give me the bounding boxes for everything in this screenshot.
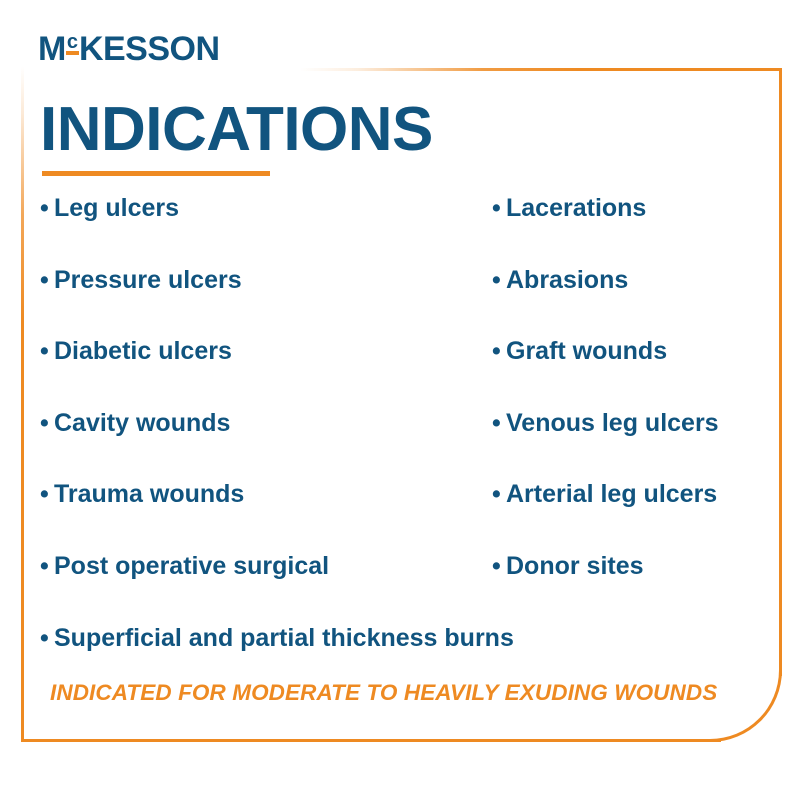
logo-suffix: KESSON xyxy=(79,32,220,66)
list-item-label: Arterial leg ulcers xyxy=(506,482,717,507)
indications-column-right: •Lacerations•Abrasions•Graft wounds•Veno… xyxy=(492,196,792,625)
list-item: •Graft wounds xyxy=(492,339,792,411)
list-item: •Abrasions xyxy=(492,268,792,340)
list-item: •Leg ulcers xyxy=(40,196,470,268)
mckesson-logo: M c KESSON xyxy=(38,32,220,66)
logo-prefix: M xyxy=(38,32,66,66)
list-item-label: Graft wounds xyxy=(506,339,667,364)
list-item: •Cavity wounds xyxy=(40,411,470,483)
list-item: •Post operative surgical xyxy=(40,554,470,626)
list-item-label: Abrasions xyxy=(506,268,628,293)
bullet-icon: • xyxy=(492,196,506,221)
bullet-icon: • xyxy=(40,268,54,293)
bullet-icon: • xyxy=(40,196,54,221)
frame-left-border xyxy=(21,66,24,742)
list-item-label: Post operative surgical xyxy=(54,554,329,579)
page-title-underline xyxy=(42,171,270,176)
list-item-label: Leg ulcers xyxy=(54,196,179,221)
list-item-label: Diabetic ulcers xyxy=(54,339,232,364)
frame-top-border xyxy=(300,68,781,71)
list-item-label: Lacerations xyxy=(506,196,646,221)
bullet-icon: • xyxy=(40,482,54,507)
list-item: •Venous leg ulcers xyxy=(492,411,792,483)
bullet-icon: • xyxy=(492,554,506,579)
bullet-icon: • xyxy=(40,626,54,651)
list-item: •Trauma wounds xyxy=(40,482,470,554)
bullet-icon: • xyxy=(40,411,54,436)
list-item: •Pressure ulcers xyxy=(40,268,470,340)
indications-column-left: •Leg ulcers•Pressure ulcers•Diabetic ulc… xyxy=(40,196,470,625)
list-item: •Lacerations xyxy=(492,196,792,268)
bullet-icon: • xyxy=(40,554,54,579)
bullet-icon: • xyxy=(492,482,506,507)
bullet-icon: • xyxy=(40,339,54,364)
list-item: •Donor sites xyxy=(492,554,792,626)
page-title: INDICATIONS xyxy=(40,96,433,164)
list-item-label: Donor sites xyxy=(506,554,644,579)
indications-card: M c KESSON INDICATIONS •Leg ulcers•Press… xyxy=(0,0,800,800)
frame-bottom-border xyxy=(21,739,721,742)
logo-superscript-c: c xyxy=(66,32,79,52)
footer-note: INDICATED FOR MODERATE TO HEAVILY EXUDIN… xyxy=(50,680,717,706)
list-item-label: Venous leg ulcers xyxy=(506,411,719,436)
logo-superscript-group: c xyxy=(66,32,79,52)
list-item: • Superficial and partial thickness burn… xyxy=(40,626,514,651)
logo-superscript-underline xyxy=(66,51,79,55)
bullet-icon: • xyxy=(492,268,506,293)
bullet-icon: • xyxy=(492,411,506,436)
list-item-label: Pressure ulcers xyxy=(54,268,242,293)
list-item: •Diabetic ulcers xyxy=(40,339,470,411)
list-item-label: Trauma wounds xyxy=(54,482,244,507)
bullet-icon: • xyxy=(492,339,506,364)
list-item-label: Cavity wounds xyxy=(54,411,230,436)
list-item-label: Superficial and partial thickness burns xyxy=(54,626,514,651)
list-item: •Arterial leg ulcers xyxy=(492,482,792,554)
